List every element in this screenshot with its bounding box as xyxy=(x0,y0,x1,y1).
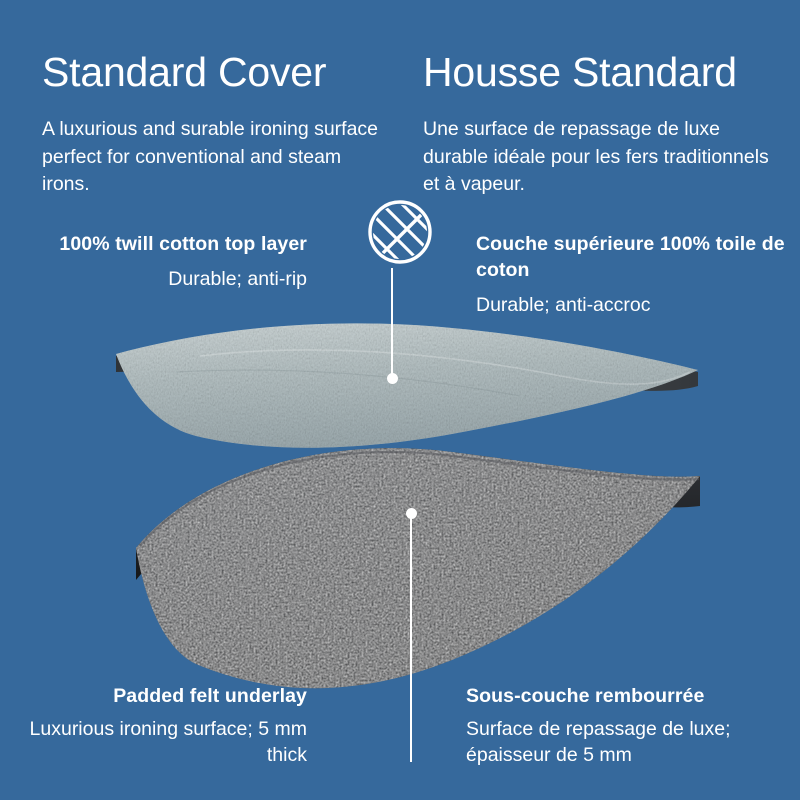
felt-underlay-layer xyxy=(136,448,700,688)
callout-heading: 100% twill cotton top layer xyxy=(22,232,307,258)
callout-heading: Couche supérieure 100% toile de coton xyxy=(476,232,786,284)
page-title-french: Housse Standard xyxy=(423,50,737,94)
callout-subtext: Luxurious ironing surface; 5 mm thick xyxy=(22,717,307,769)
intro-text-french: Une surface de repassage de luxe durable… xyxy=(423,116,783,199)
cotton-top-layer xyxy=(116,323,698,447)
callout-bottom-layer-english: Padded felt underlay Luxurious ironing s… xyxy=(22,684,307,769)
leader-line-top-layer xyxy=(391,268,393,380)
woven-mesh-icon xyxy=(365,197,435,267)
callout-subtext: Surface de repassage de luxe; épaisseur … xyxy=(466,717,790,769)
callout-subtext: Durable; anti-rip xyxy=(22,267,307,293)
page-title-english: Standard Cover xyxy=(42,50,326,94)
product-infographic: Standard Cover Housse Standard A luxurio… xyxy=(0,0,800,800)
leader-line-bottom-layer xyxy=(410,518,412,762)
callout-heading: Sous-couche rembourrée xyxy=(466,684,790,710)
leader-dot-bottom-layer xyxy=(406,508,417,519)
callout-subtext: Durable; anti-accroc xyxy=(476,293,786,319)
callout-heading: Padded felt underlay xyxy=(22,684,307,710)
callout-top-layer-english: 100% twill cotton top layer Durable; ant… xyxy=(22,232,307,293)
callout-top-layer-french: Couche supérieure 100% toile de coton Du… xyxy=(476,232,786,319)
callout-bottom-layer-french: Sous-couche rembourrée Surface de repass… xyxy=(466,684,790,769)
intro-text-english: A luxurious and surable ironing surface … xyxy=(42,116,382,199)
leader-dot-top-layer xyxy=(387,373,398,384)
